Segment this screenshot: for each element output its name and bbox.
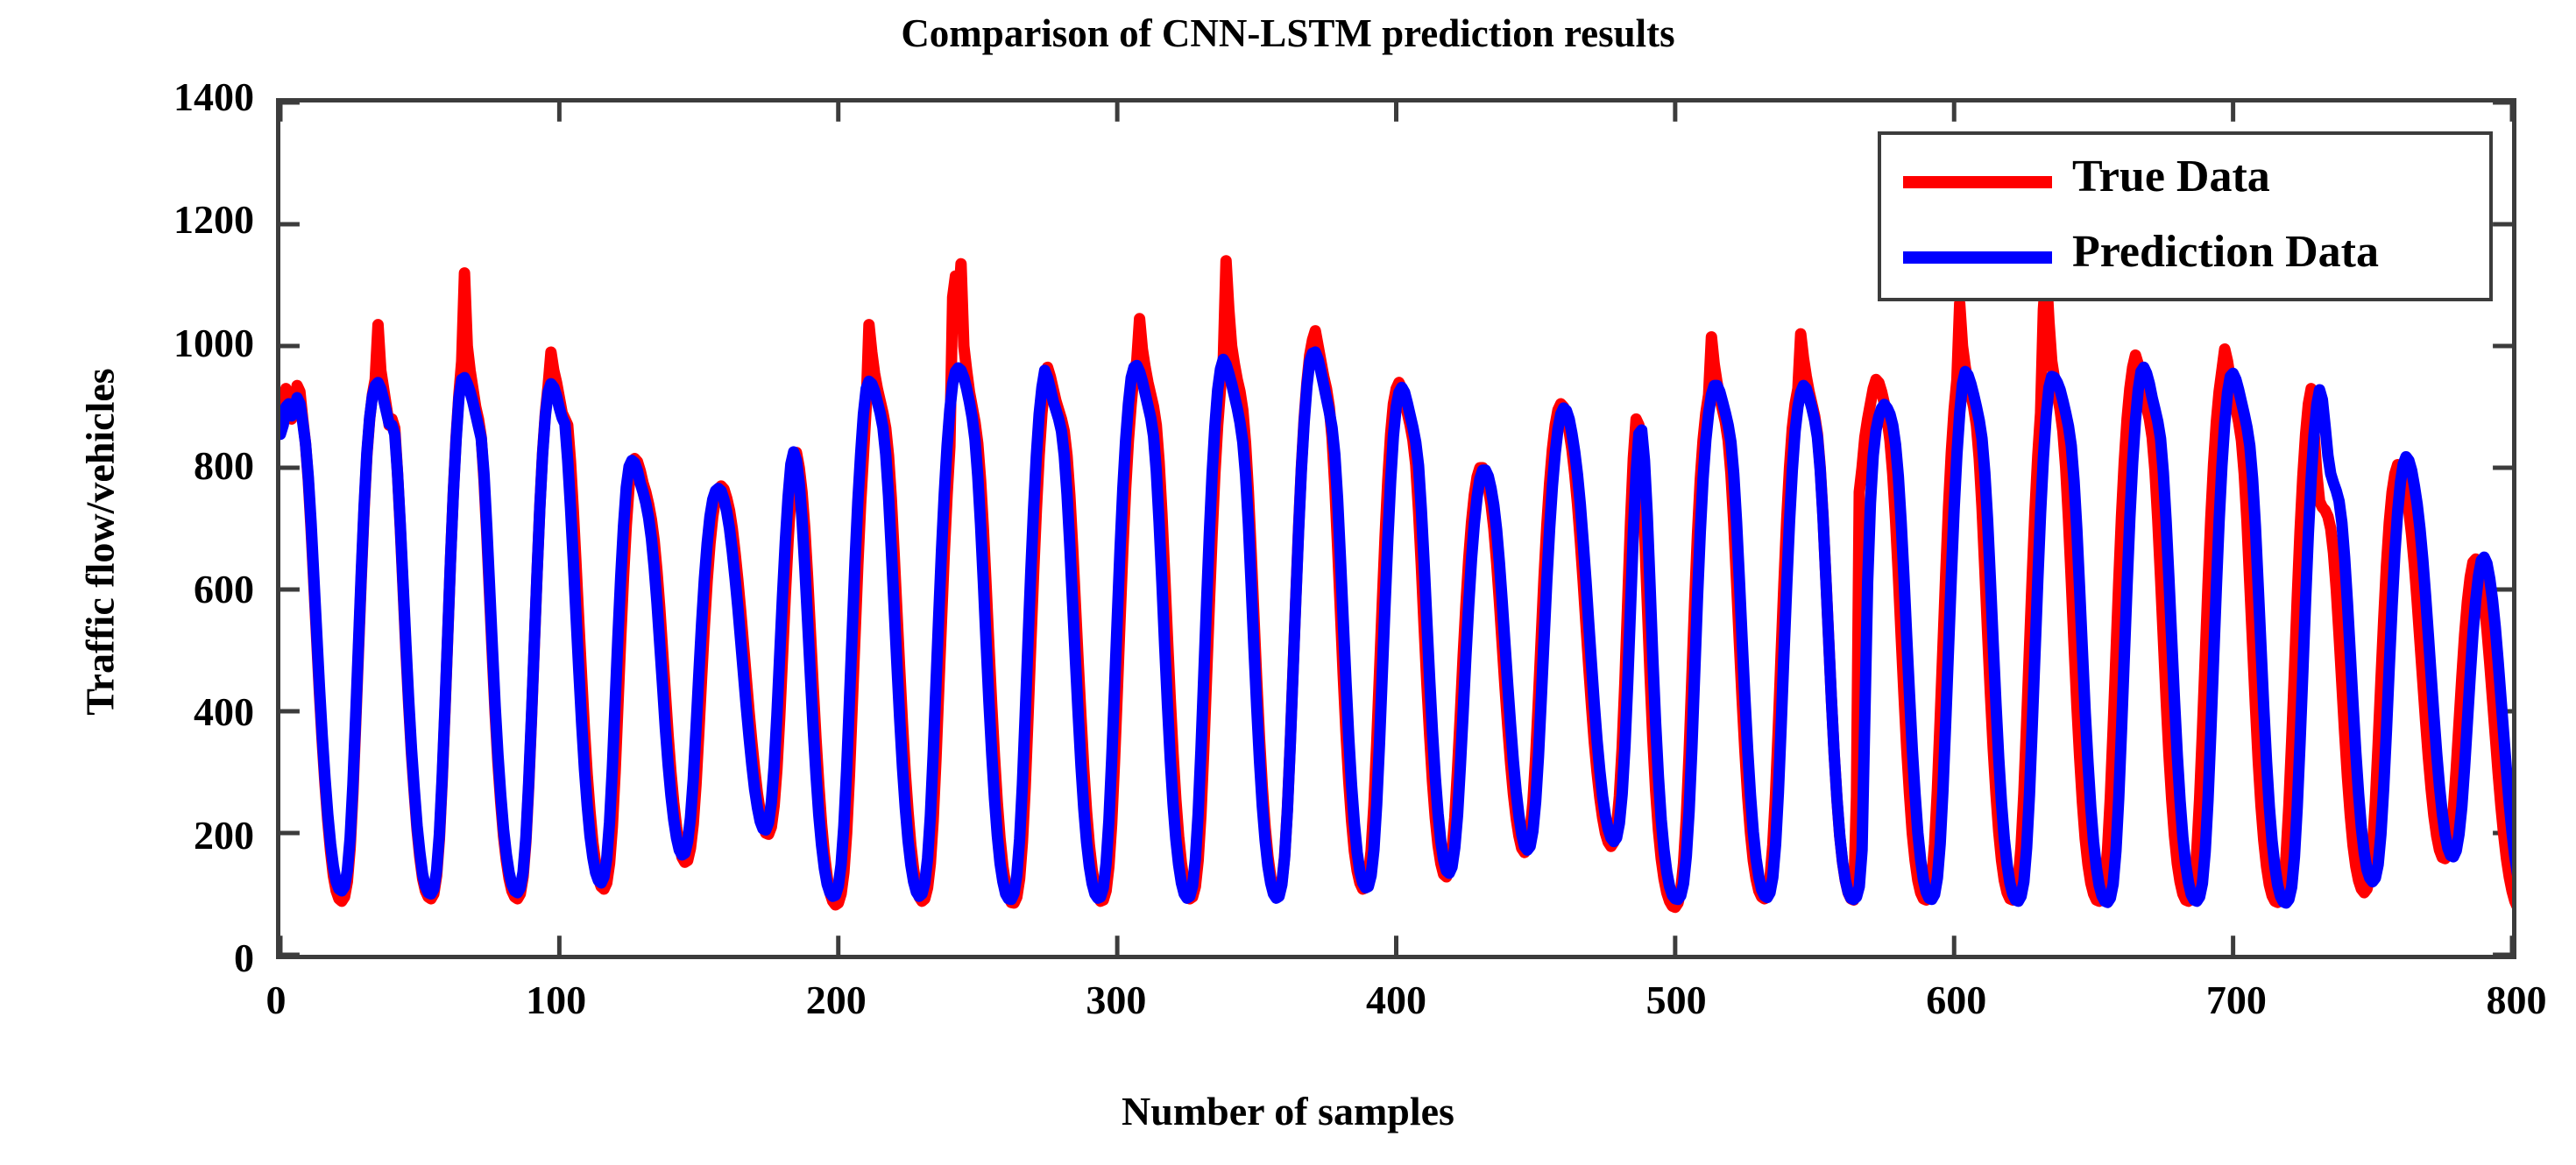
- x-tick-label: 300: [1029, 980, 1204, 1020]
- legend-item-true-data: True Data: [1881, 147, 2489, 217]
- x-tick-label: 400: [1309, 980, 1484, 1020]
- x-tick-label: 800: [2429, 980, 2576, 1020]
- legend-color-swatch-true-data: [1903, 176, 2052, 188]
- y-tick-label: 400: [26, 692, 254, 732]
- legend-label-prediction-data: Prediction Data: [2072, 229, 2379, 275]
- x-tick-label: 200: [748, 980, 924, 1020]
- y-tick-label: 0: [26, 938, 254, 978]
- x-tick-label: 600: [1869, 980, 2044, 1020]
- x-tick-label: 700: [2148, 980, 2324, 1020]
- y-tick-label: 1000: [26, 323, 254, 364]
- legend: True Data Prediction Data: [1878, 131, 2493, 301]
- page-title: Comparison of CNN-LSTM prediction result…: [0, 11, 2576, 56]
- chart-page: Comparison of CNN-LSTM prediction result…: [0, 0, 2576, 1165]
- y-tick-label: 1200: [26, 200, 254, 240]
- x-axis-label: Number of samples: [0, 1088, 2576, 1134]
- x-tick-label: 500: [1589, 980, 1764, 1020]
- legend-color-swatch-prediction-data: [1903, 251, 2052, 264]
- y-tick-label: 1400: [26, 77, 254, 117]
- y-tick-label: 600: [26, 569, 254, 610]
- x-tick-label: 0: [188, 980, 364, 1020]
- legend-label-true-data: True Data: [2072, 154, 2270, 200]
- y-tick-label: 800: [26, 446, 254, 486]
- legend-item-prediction-data: Prediction Data: [1881, 222, 2489, 293]
- y-tick-label: 200: [26, 815, 254, 856]
- x-tick-label: 100: [469, 980, 644, 1020]
